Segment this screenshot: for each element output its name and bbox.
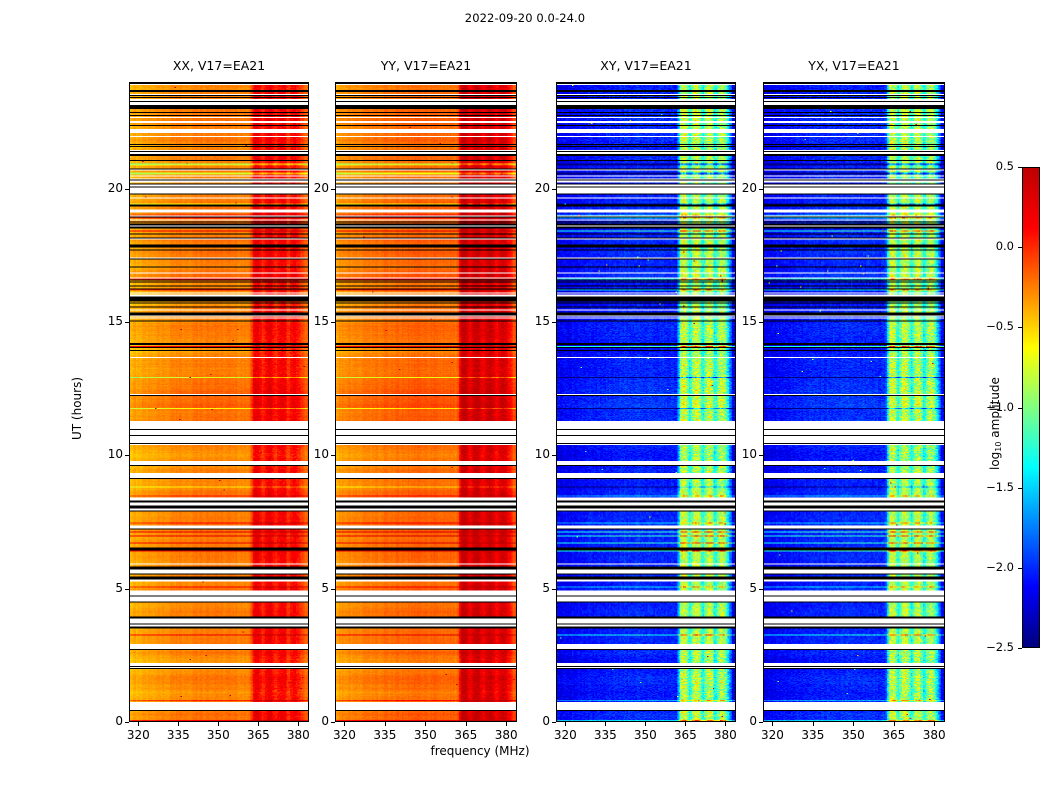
x-tick-mark — [813, 722, 814, 726]
x-tick-mark — [138, 722, 139, 726]
y-tick-label: 5 — [83, 581, 123, 595]
colorbar[interactable] — [1022, 167, 1040, 648]
y-tick-label: 20 — [83, 181, 123, 195]
colorbar-tick-mark — [1018, 568, 1022, 569]
y-tick-label: 0 — [289, 714, 329, 728]
panel-title-xx: XX, V17=EA21 — [129, 58, 309, 73]
y-tick-mark — [125, 189, 129, 190]
colorbar-tick-label: −0.5 — [960, 319, 1014, 333]
y-tick-label: 15 — [289, 314, 329, 328]
y-tick-mark — [125, 455, 129, 456]
y-tick-label: 15 — [83, 314, 123, 328]
colorbar-label: log10 amplitude — [988, 377, 1002, 470]
y-tick-mark — [759, 722, 763, 723]
y-tick-label: 5 — [289, 581, 329, 595]
y-tick-mark — [125, 322, 129, 323]
y-tick-mark — [331, 722, 335, 723]
x-tick-label: 380 — [904, 728, 964, 742]
y-tick-mark — [552, 189, 556, 190]
colorbar-label-subscript: 10 — [994, 442, 1003, 452]
x-tick-mark — [344, 722, 345, 726]
y-tick-label: 0 — [717, 714, 757, 728]
waterfall-image-xy — [557, 83, 735, 721]
colorbar-gradient — [1023, 168, 1039, 647]
waterfall-panel-yy[interactable] — [335, 82, 517, 722]
colorbar-tick-label: −2.5 — [960, 640, 1014, 654]
y-tick-label: 20 — [510, 181, 550, 195]
x-tick-mark — [894, 722, 895, 726]
y-tick-label: 10 — [510, 447, 550, 461]
waterfall-panel-xy[interactable] — [556, 82, 736, 722]
figure-suptitle: 2022-09-20 0.0-24.0 — [0, 11, 1050, 25]
y-tick-label: 0 — [83, 714, 123, 728]
waterfall-image-xx — [130, 83, 308, 721]
y-tick-mark — [759, 189, 763, 190]
colorbar-tick-mark — [1018, 327, 1022, 328]
x-tick-mark — [605, 722, 606, 726]
x-tick-mark — [258, 722, 259, 726]
y-tick-mark — [552, 589, 556, 590]
panel-title-yy: YY, V17=EA21 — [335, 58, 517, 73]
x-tick-mark — [425, 722, 426, 726]
waterfall-panel-xx[interactable] — [129, 82, 309, 722]
colorbar-tick-label: −1.0 — [960, 400, 1014, 414]
y-tick-label: 15 — [717, 314, 757, 328]
y-tick-label: 20 — [289, 181, 329, 195]
y-tick-label: 20 — [717, 181, 757, 195]
y-tick-mark — [552, 455, 556, 456]
waterfall-panel-yx[interactable] — [763, 82, 945, 722]
y-tick-label: 10 — [289, 447, 329, 461]
colorbar-tick-mark — [1018, 648, 1022, 649]
x-tick-mark — [385, 722, 386, 726]
y-tick-mark — [759, 322, 763, 323]
y-tick-mark — [331, 455, 335, 456]
y-tick-mark — [759, 455, 763, 456]
x-tick-mark — [685, 722, 686, 726]
y-tick-label: 15 — [510, 314, 550, 328]
waterfall-image-yy — [336, 83, 516, 721]
y-tick-mark — [125, 589, 129, 590]
y-tick-label: 5 — [510, 581, 550, 595]
y-tick-mark — [331, 322, 335, 323]
y-tick-mark — [552, 322, 556, 323]
colorbar-label-base: log — [988, 452, 1002, 470]
colorbar-label-tail: amplitude — [988, 377, 1002, 441]
colorbar-tick-label: 0.5 — [960, 159, 1014, 173]
panel-title-xy: XY, V17=EA21 — [556, 58, 736, 73]
colorbar-tick-mark — [1018, 488, 1022, 489]
colorbar-tick-mark — [1018, 247, 1022, 248]
panel-title-yx: YX, V17=EA21 — [763, 58, 945, 73]
x-tick-mark — [218, 722, 219, 726]
y-tick-mark — [331, 589, 335, 590]
colorbar-tick-label: 0.0 — [960, 239, 1014, 253]
y-axis-label: UT (hours) — [70, 377, 84, 440]
figure-canvas: 2022-09-20 0.0-24.0 XX, V17=EA2132033535… — [0, 0, 1050, 800]
x-tick-mark — [565, 722, 566, 726]
y-tick-label: 10 — [717, 447, 757, 461]
y-tick-mark — [552, 722, 556, 723]
x-tick-mark — [466, 722, 467, 726]
y-tick-mark — [331, 189, 335, 190]
waterfall-image-yx — [764, 83, 944, 721]
y-tick-label: 10 — [83, 447, 123, 461]
y-tick-mark — [759, 589, 763, 590]
x-tick-label: 380 — [476, 728, 536, 742]
y-tick-mark — [125, 722, 129, 723]
x-tick-mark — [506, 722, 507, 726]
x-tick-mark — [645, 722, 646, 726]
x-tick-mark — [178, 722, 179, 726]
colorbar-tick-label: −2.0 — [960, 560, 1014, 574]
x-axis-label: frequency (MHz) — [380, 744, 580, 758]
y-tick-label: 5 — [717, 581, 757, 595]
x-tick-mark — [772, 722, 773, 726]
x-tick-mark — [853, 722, 854, 726]
colorbar-tick-label: −1.5 — [960, 480, 1014, 494]
colorbar-tick-mark — [1018, 408, 1022, 409]
colorbar-tick-mark — [1018, 167, 1022, 168]
y-tick-label: 0 — [510, 714, 550, 728]
x-tick-mark — [934, 722, 935, 726]
